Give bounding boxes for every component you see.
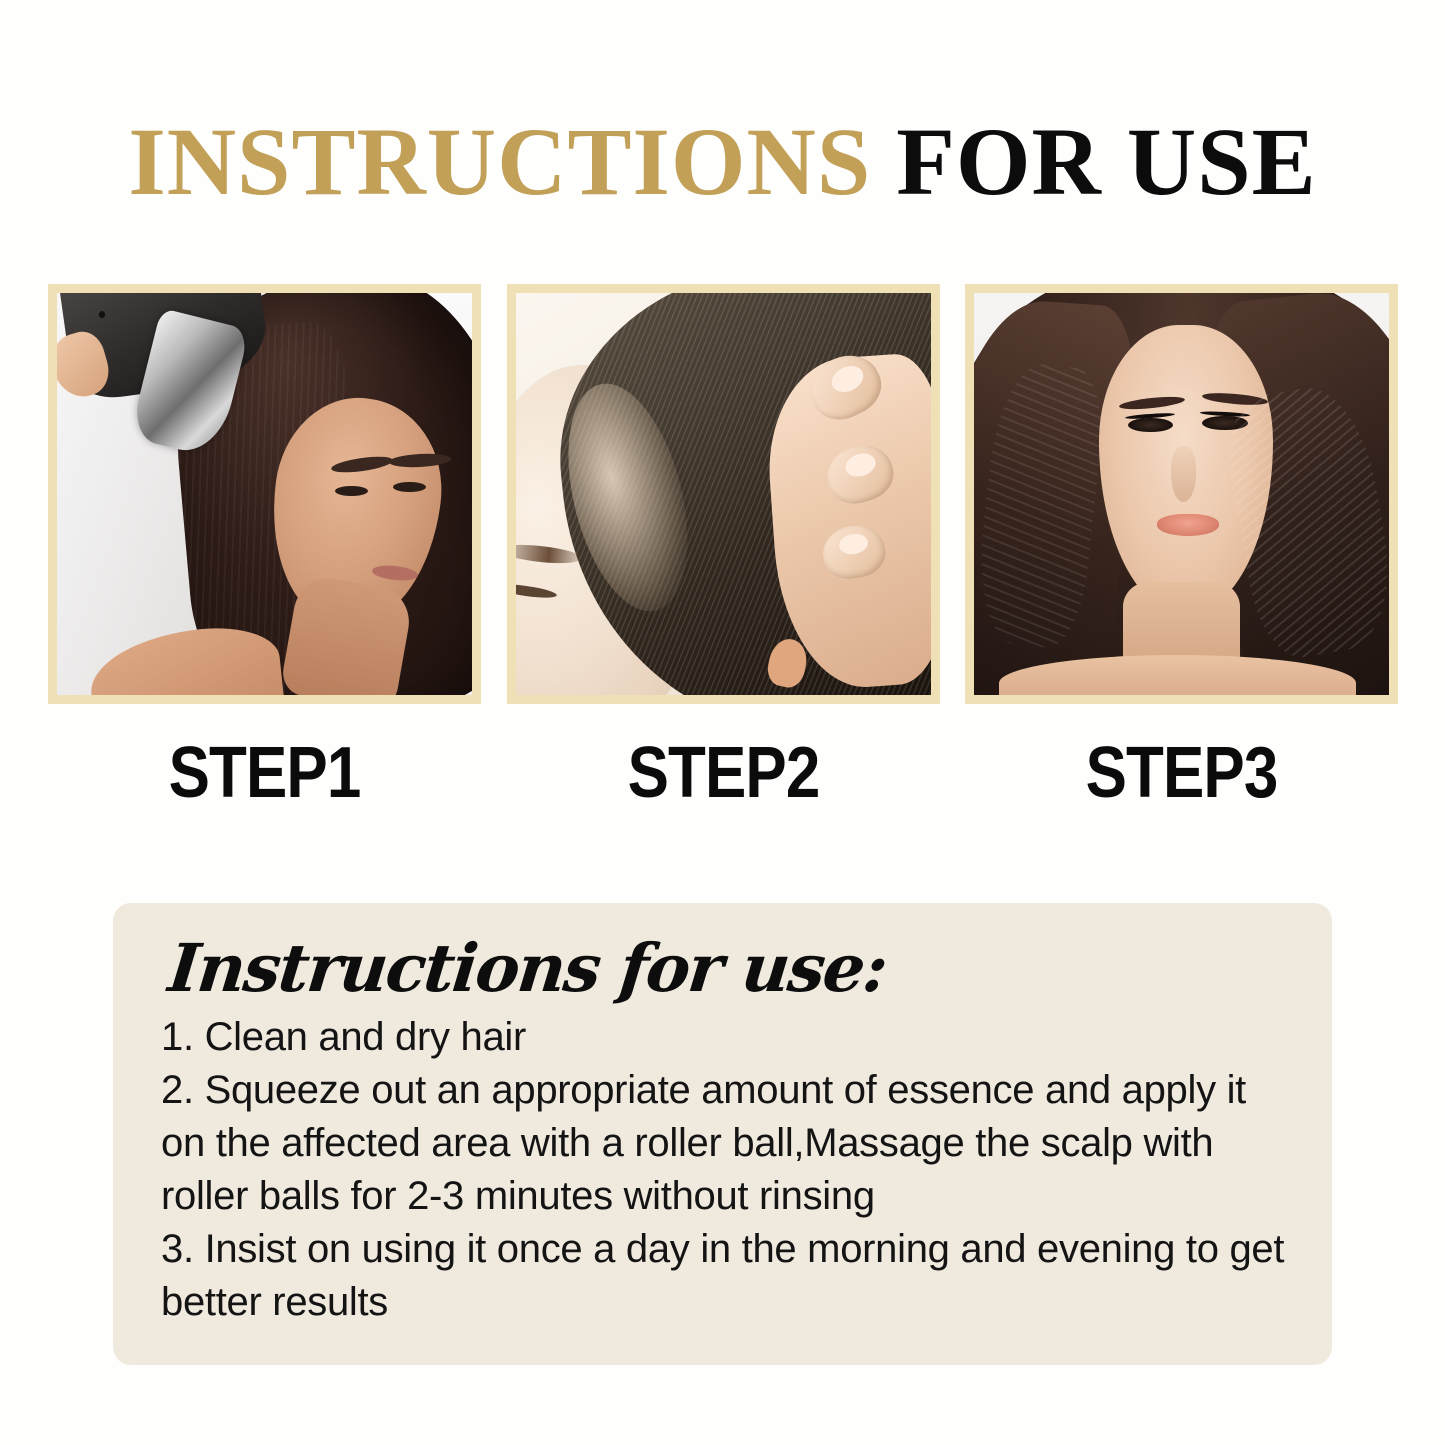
page-title-gold-part: INSTRUCTIONS bbox=[128, 108, 871, 215]
step-photo-frame-2 bbox=[507, 284, 940, 704]
page-title-black-part: FOR USE bbox=[871, 108, 1316, 215]
step-label-1: STEP1 bbox=[78, 730, 450, 816]
instructions-heading: Instructions for use: bbox=[165, 929, 1294, 1007]
step-photo-frame-1 bbox=[48, 284, 481, 704]
step-photo-frame-3 bbox=[965, 284, 1398, 704]
model-portrait-photo bbox=[974, 293, 1389, 695]
photo3-nose bbox=[1171, 446, 1196, 502]
instructions-body: 1. Clean and dry hair 2. Squeeze out an … bbox=[161, 1011, 1290, 1329]
step-label-2: STEP2 bbox=[537, 730, 909, 816]
step-label-3: STEP3 bbox=[995, 730, 1367, 816]
instructions-card: Instructions for use: 1. Clean and dry h… bbox=[113, 903, 1332, 1365]
photo3-eye-left bbox=[1128, 418, 1174, 432]
step-label-row: STEP1 STEP2 STEP3 bbox=[48, 730, 1398, 816]
photo3-lips bbox=[1157, 514, 1219, 536]
scalp-closeup-photo bbox=[516, 293, 931, 695]
hair-dryer-vent-dot bbox=[99, 311, 106, 317]
step-photo-row bbox=[48, 284, 1398, 704]
blow-dry-photo bbox=[57, 293, 472, 695]
page-title: INSTRUCTIONS FOR USE bbox=[0, 112, 1445, 212]
